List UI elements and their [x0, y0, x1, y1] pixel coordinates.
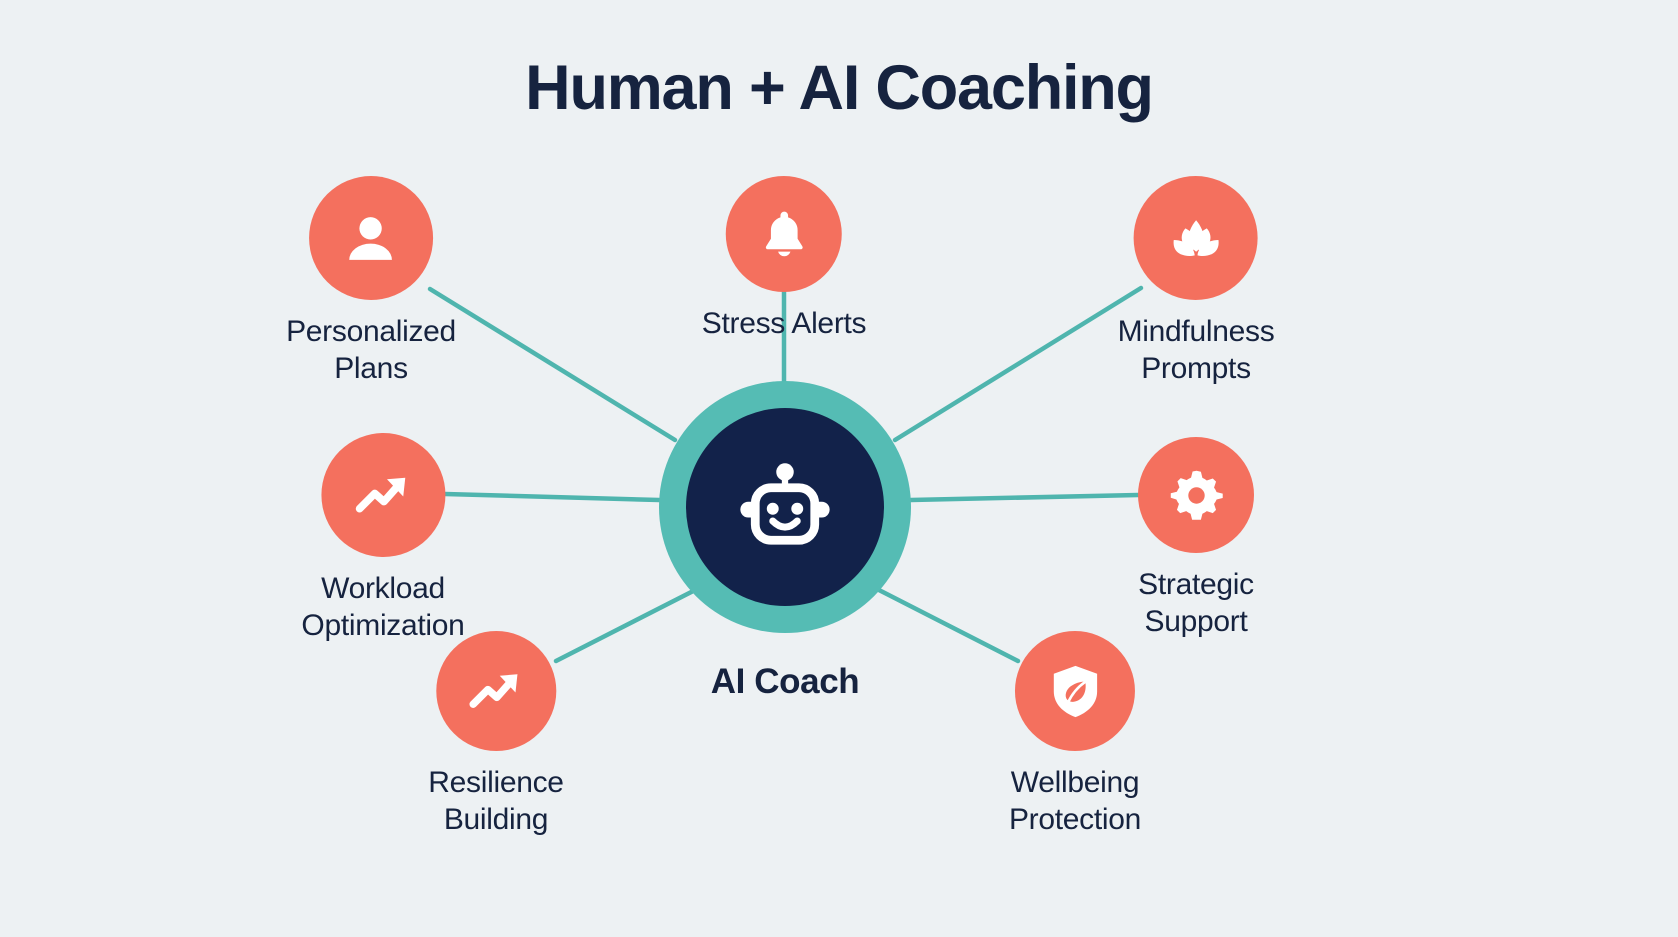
node-label-line2: Protection	[1009, 802, 1141, 839]
connector-mindfulness-prompts	[895, 288, 1141, 440]
connector-resilience-building	[556, 585, 705, 661]
connector-workload-optimization	[445, 494, 659, 500]
hub-icon-circle	[686, 408, 884, 606]
node-label-line1: Mindfulness	[1118, 314, 1275, 351]
node-label-line2: Plans	[286, 351, 456, 388]
trending-up-icon	[350, 463, 415, 528]
node-icon-circle-workload-optimization	[321, 433, 445, 557]
connector-wellbeing-protection	[875, 588, 1018, 661]
node-label-line2: Building	[428, 802, 563, 839]
lotus-icon	[1164, 206, 1229, 271]
node-icon-circle-strategic-support	[1138, 437, 1254, 553]
node-label-resilience-building: ResilienceBuilding	[428, 765, 563, 838]
node-label-mindfulness-prompts: MindfulnessPrompts	[1118, 314, 1275, 387]
node-personalized-plans[interactable]: PersonalizedPlans	[286, 176, 456, 387]
hub-label: AI Coach	[711, 662, 860, 702]
node-mindfulness-prompts[interactable]: MindfulnessPrompts	[1118, 176, 1275, 387]
node-workload-optimization[interactable]: WorkloadOptimization	[301, 433, 464, 644]
trending-up-icon	[465, 660, 528, 723]
gear-icon	[1166, 465, 1227, 526]
bell-icon	[753, 204, 814, 265]
node-label-line1: Wellbeing	[1009, 765, 1141, 802]
page-title: Human + AI Coaching	[0, 52, 1678, 124]
diagram-canvas: Human + AI Coaching PersonalizedPlansStr…	[0, 0, 1678, 937]
node-label-stress-alerts: Stress Alerts	[702, 306, 866, 343]
node-label-strategic-support: StrategicSupport	[1138, 567, 1254, 640]
node-label-line1: Resilience	[428, 765, 563, 802]
user-icon	[339, 206, 404, 271]
node-label-personalized-plans: PersonalizedPlans	[286, 314, 456, 387]
shield-leaf-icon	[1043, 660, 1106, 723]
node-icon-circle-personalized-plans	[309, 176, 433, 300]
node-label-wellbeing-protection: WellbeingProtection	[1009, 765, 1141, 838]
node-label-line1: Personalized	[286, 314, 456, 351]
hub-node-ai-coach[interactable]	[659, 381, 911, 633]
node-resilience-building[interactable]: ResilienceBuilding	[428, 631, 563, 838]
node-label-line2: Support	[1138, 604, 1254, 641]
node-icon-circle-mindfulness-prompts	[1134, 176, 1258, 300]
node-stress-alerts[interactable]: Stress Alerts	[702, 176, 866, 343]
node-strategic-support[interactable]: StrategicSupport	[1138, 437, 1254, 640]
connector-strategic-support	[911, 495, 1138, 500]
node-wellbeing-protection[interactable]: WellbeingProtection	[1009, 631, 1141, 838]
node-icon-circle-resilience-building	[436, 631, 556, 751]
node-label-line2: Prompts	[1118, 351, 1275, 388]
robot-icon	[729, 451, 841, 563]
connector-personalized-plans	[430, 289, 675, 440]
node-icon-circle-wellbeing-protection	[1015, 631, 1135, 751]
node-label-line1: Workload	[301, 571, 464, 608]
node-icon-circle-stress-alerts	[726, 176, 842, 292]
node-label-line1: Stress Alerts	[702, 306, 866, 343]
node-label-line1: Strategic	[1138, 567, 1254, 604]
